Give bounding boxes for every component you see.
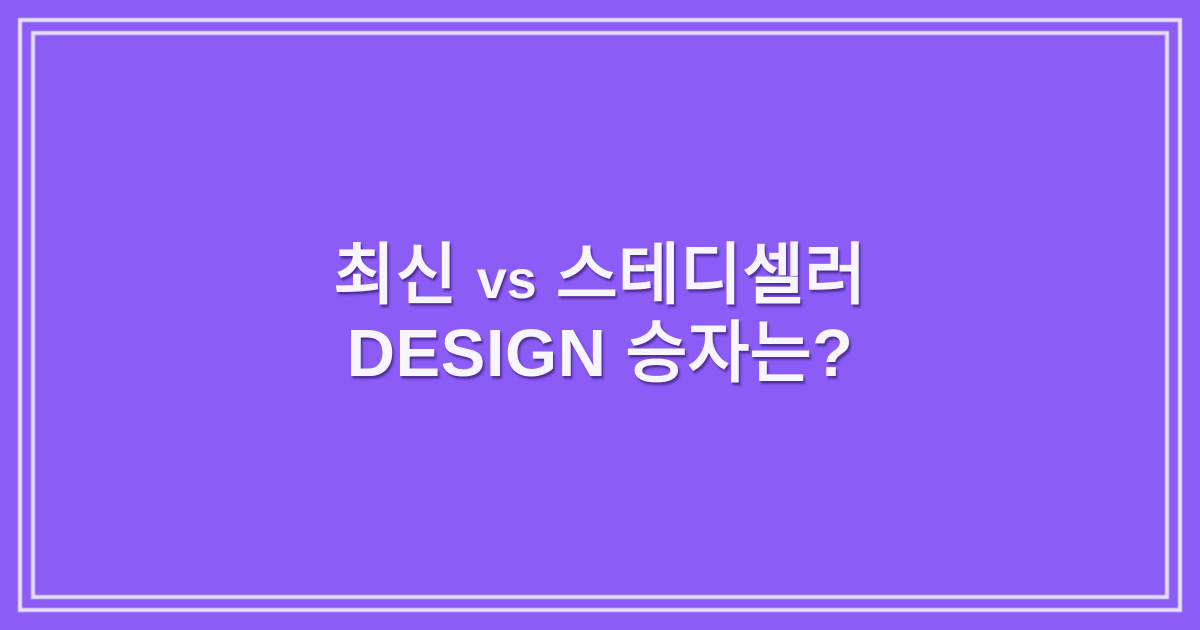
- thumbnail-canvas: 최신 vs 스테디셀러 DESIGN 승자는?: [0, 0, 1200, 630]
- headline-line-2: DESIGN 승자는?: [347, 316, 854, 392]
- headline-line1-part2: 스테디셀러: [556, 238, 867, 313]
- headline-line1-part1: 최신: [333, 238, 457, 313]
- headline-block: 최신 vs 스테디셀러 DESIGN 승자는?: [0, 0, 1200, 630]
- headline-line-1: 최신 vs 스테디셀러: [333, 238, 866, 314]
- headline-vs-token: vs: [477, 250, 537, 310]
